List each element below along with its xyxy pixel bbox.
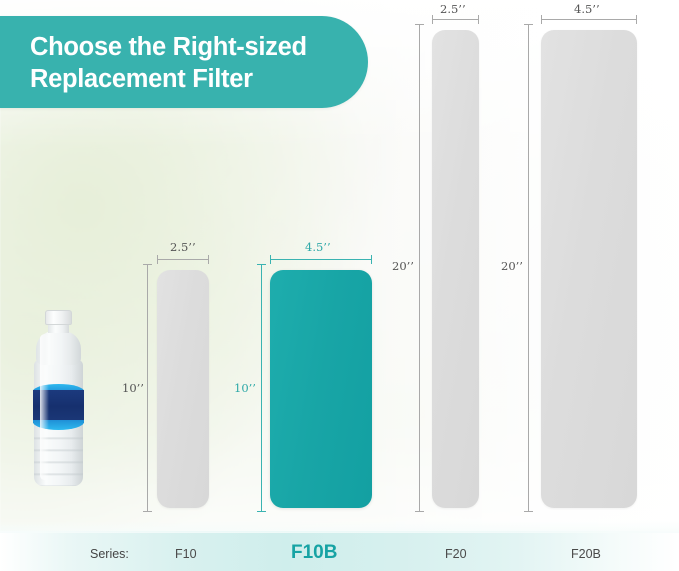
filter-cartridge-f10[interactable] [157, 270, 209, 508]
dim-tick-top [143, 264, 152, 265]
series-caption: Series: [90, 547, 129, 561]
dim-tick-left [432, 15, 433, 24]
dim-tick-top [257, 264, 266, 265]
bottle-neck [48, 324, 69, 333]
dimension-line-height-f20b [528, 24, 529, 512]
dim-tick-top [415, 24, 424, 25]
bottle-cap-icon [45, 310, 72, 325]
dimension-line-height-f10 [147, 264, 148, 512]
series-label-f10[interactable]: F10 [175, 547, 197, 561]
filter-size-comparison-infographic: Choose the Right-sized Replacement Filte… [0, 0, 679, 571]
dim-tick-right [208, 255, 209, 264]
dimension-label-height-f20: 20’’ [392, 259, 414, 273]
dimension-line-width-f10b [270, 259, 372, 260]
dimension-label-height-f10: 10’’ [122, 381, 144, 395]
dimension-line-width-f10 [157, 259, 209, 260]
dim-tick-right [371, 255, 372, 264]
dim-tick-bottom [415, 511, 424, 512]
dim-tick-left [270, 255, 271, 264]
dimension-label-height-f10b: 10’’ [234, 381, 256, 395]
banner-title: Choose the Right-sized Replacement Filte… [30, 32, 340, 95]
bottle-highlight [40, 334, 49, 480]
filter-cartridge-f20[interactable] [432, 30, 479, 508]
dim-tick-right [478, 15, 479, 24]
water-bottle-reference [28, 310, 90, 488]
dim-tick-left [157, 255, 158, 264]
dim-tick-bottom [257, 511, 266, 512]
dimension-line-width-f20b [541, 19, 637, 20]
dimension-line-width-f20 [432, 19, 479, 20]
series-label-f20b[interactable]: F20B [571, 547, 601, 561]
dimension-label-height-f20b: 20’’ [501, 259, 523, 273]
dimension-label-width-f10b: 4.5’’ [305, 240, 331, 254]
dim-tick-left [541, 15, 542, 24]
filter-cartridge-f20b[interactable] [541, 30, 637, 508]
series-legend-strip: Series: F10 F10B F20 F20B [0, 531, 679, 571]
dimension-line-height-f20 [419, 24, 420, 512]
header-banner: Choose the Right-sized Replacement Filte… [0, 16, 368, 108]
dim-tick-top [524, 24, 533, 25]
series-label-f20[interactable]: F20 [445, 547, 467, 561]
dim-tick-right [636, 15, 637, 24]
dimension-label-width-f20b: 4.5’’ [574, 2, 600, 16]
series-label-f10b[interactable]: F10B [291, 542, 337, 564]
dim-tick-bottom [524, 511, 533, 512]
dim-tick-bottom [143, 511, 152, 512]
dimension-line-height-f10b [261, 264, 262, 512]
dimension-label-width-f20: 2.5’’ [440, 2, 466, 16]
dimension-label-width-f10: 2.5’’ [170, 240, 196, 254]
filter-cartridge-f10b[interactable] [270, 270, 372, 508]
